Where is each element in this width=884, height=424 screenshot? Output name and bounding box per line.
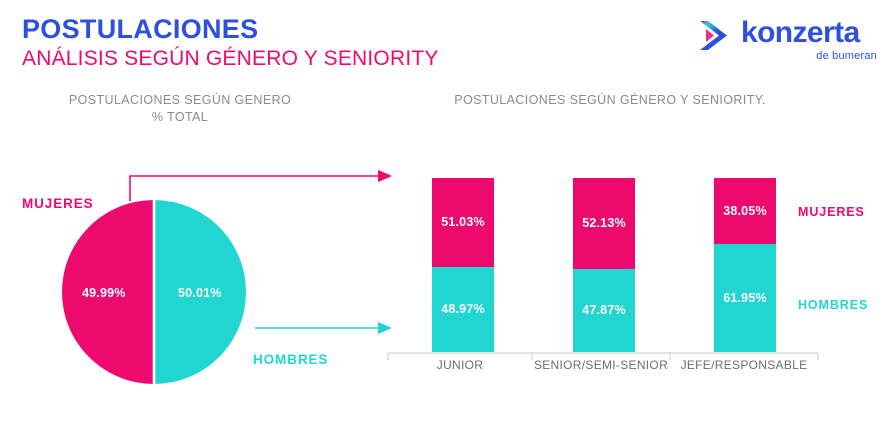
bar-senior-value-hombres: 47.87% (582, 303, 626, 317)
left-chart-caption: POSTULACIONES SEGÚN GENERO % TOTAL (46, 92, 314, 126)
logo-wordmark: konzerta (741, 16, 860, 50)
legend-hombres: HOMBRES (798, 298, 868, 312)
bar-senior-value-mujeres: 52.13% (582, 216, 626, 230)
pie-value-hombres: 50.01% (178, 286, 222, 300)
left-caption-line2: % TOTAL (46, 109, 314, 126)
bar-junior: 51.03% 48.97% (432, 178, 494, 352)
konzerta-logo: konzerta de bumeran (697, 16, 879, 68)
page-subtitle: ANÁLISIS SEGÚN GÉNERO Y SENIORITY (22, 48, 439, 69)
xtick-senior-semi-senior: SENIOR/SEMI-SENIOR (532, 358, 670, 372)
bar-jefe-value-hombres: 61.95% (723, 291, 767, 305)
pie-label-mujeres: MUJERES (22, 196, 94, 211)
xtick-junior: JUNIOR (388, 358, 532, 372)
bar-junior-value-mujeres: 51.03% (441, 215, 485, 229)
bar-jefe-value-mujeres: 38.05% (723, 204, 767, 218)
bar-senior-segment-hombres: 47.87% (573, 269, 635, 352)
bar-jefe-responsable: 38.05% 61.95% (714, 178, 776, 352)
infographic-canvas: POSTULACIONES ANÁLISIS SEGÚN GÉNERO Y SE… (0, 0, 884, 424)
bar-senior-semi-senior: 52.13% 47.87% (573, 178, 635, 352)
bar-jefe-segment-hombres: 61.95% (714, 244, 776, 352)
women-connector-line (130, 176, 378, 201)
xtick-jefe-responsable: JEFE/RESPONSABLE (670, 358, 818, 372)
seniority-bar-chart: 51.03% 48.97% 52.13% 47.87% 38.05% 61.95… (380, 160, 830, 360)
bar-jefe-segment-mujeres: 38.05% (714, 178, 776, 244)
page-title: POSTULACIONES (22, 16, 258, 43)
bar-junior-segment-hombres: 48.97% (432, 267, 494, 352)
left-caption-line1: POSTULACIONES SEGÚN GENERO (46, 92, 314, 109)
bar-junior-value-hombres: 48.97% (441, 302, 485, 316)
chevron-right-icon (697, 19, 735, 53)
logo-tagline: de bumeran (816, 50, 877, 62)
bar-junior-segment-mujeres: 51.03% (432, 178, 494, 267)
legend-mujeres: MUJERES (798, 205, 865, 219)
right-chart-caption: POSTULACIONES SEGÚN GÉNERO Y SENIORITY. (415, 92, 805, 109)
pie-label-hombres: HOMBRES (253, 352, 328, 367)
pie-value-mujeres: 49.99% (82, 286, 126, 300)
bar-senior-segment-mujeres: 52.13% (573, 178, 635, 269)
